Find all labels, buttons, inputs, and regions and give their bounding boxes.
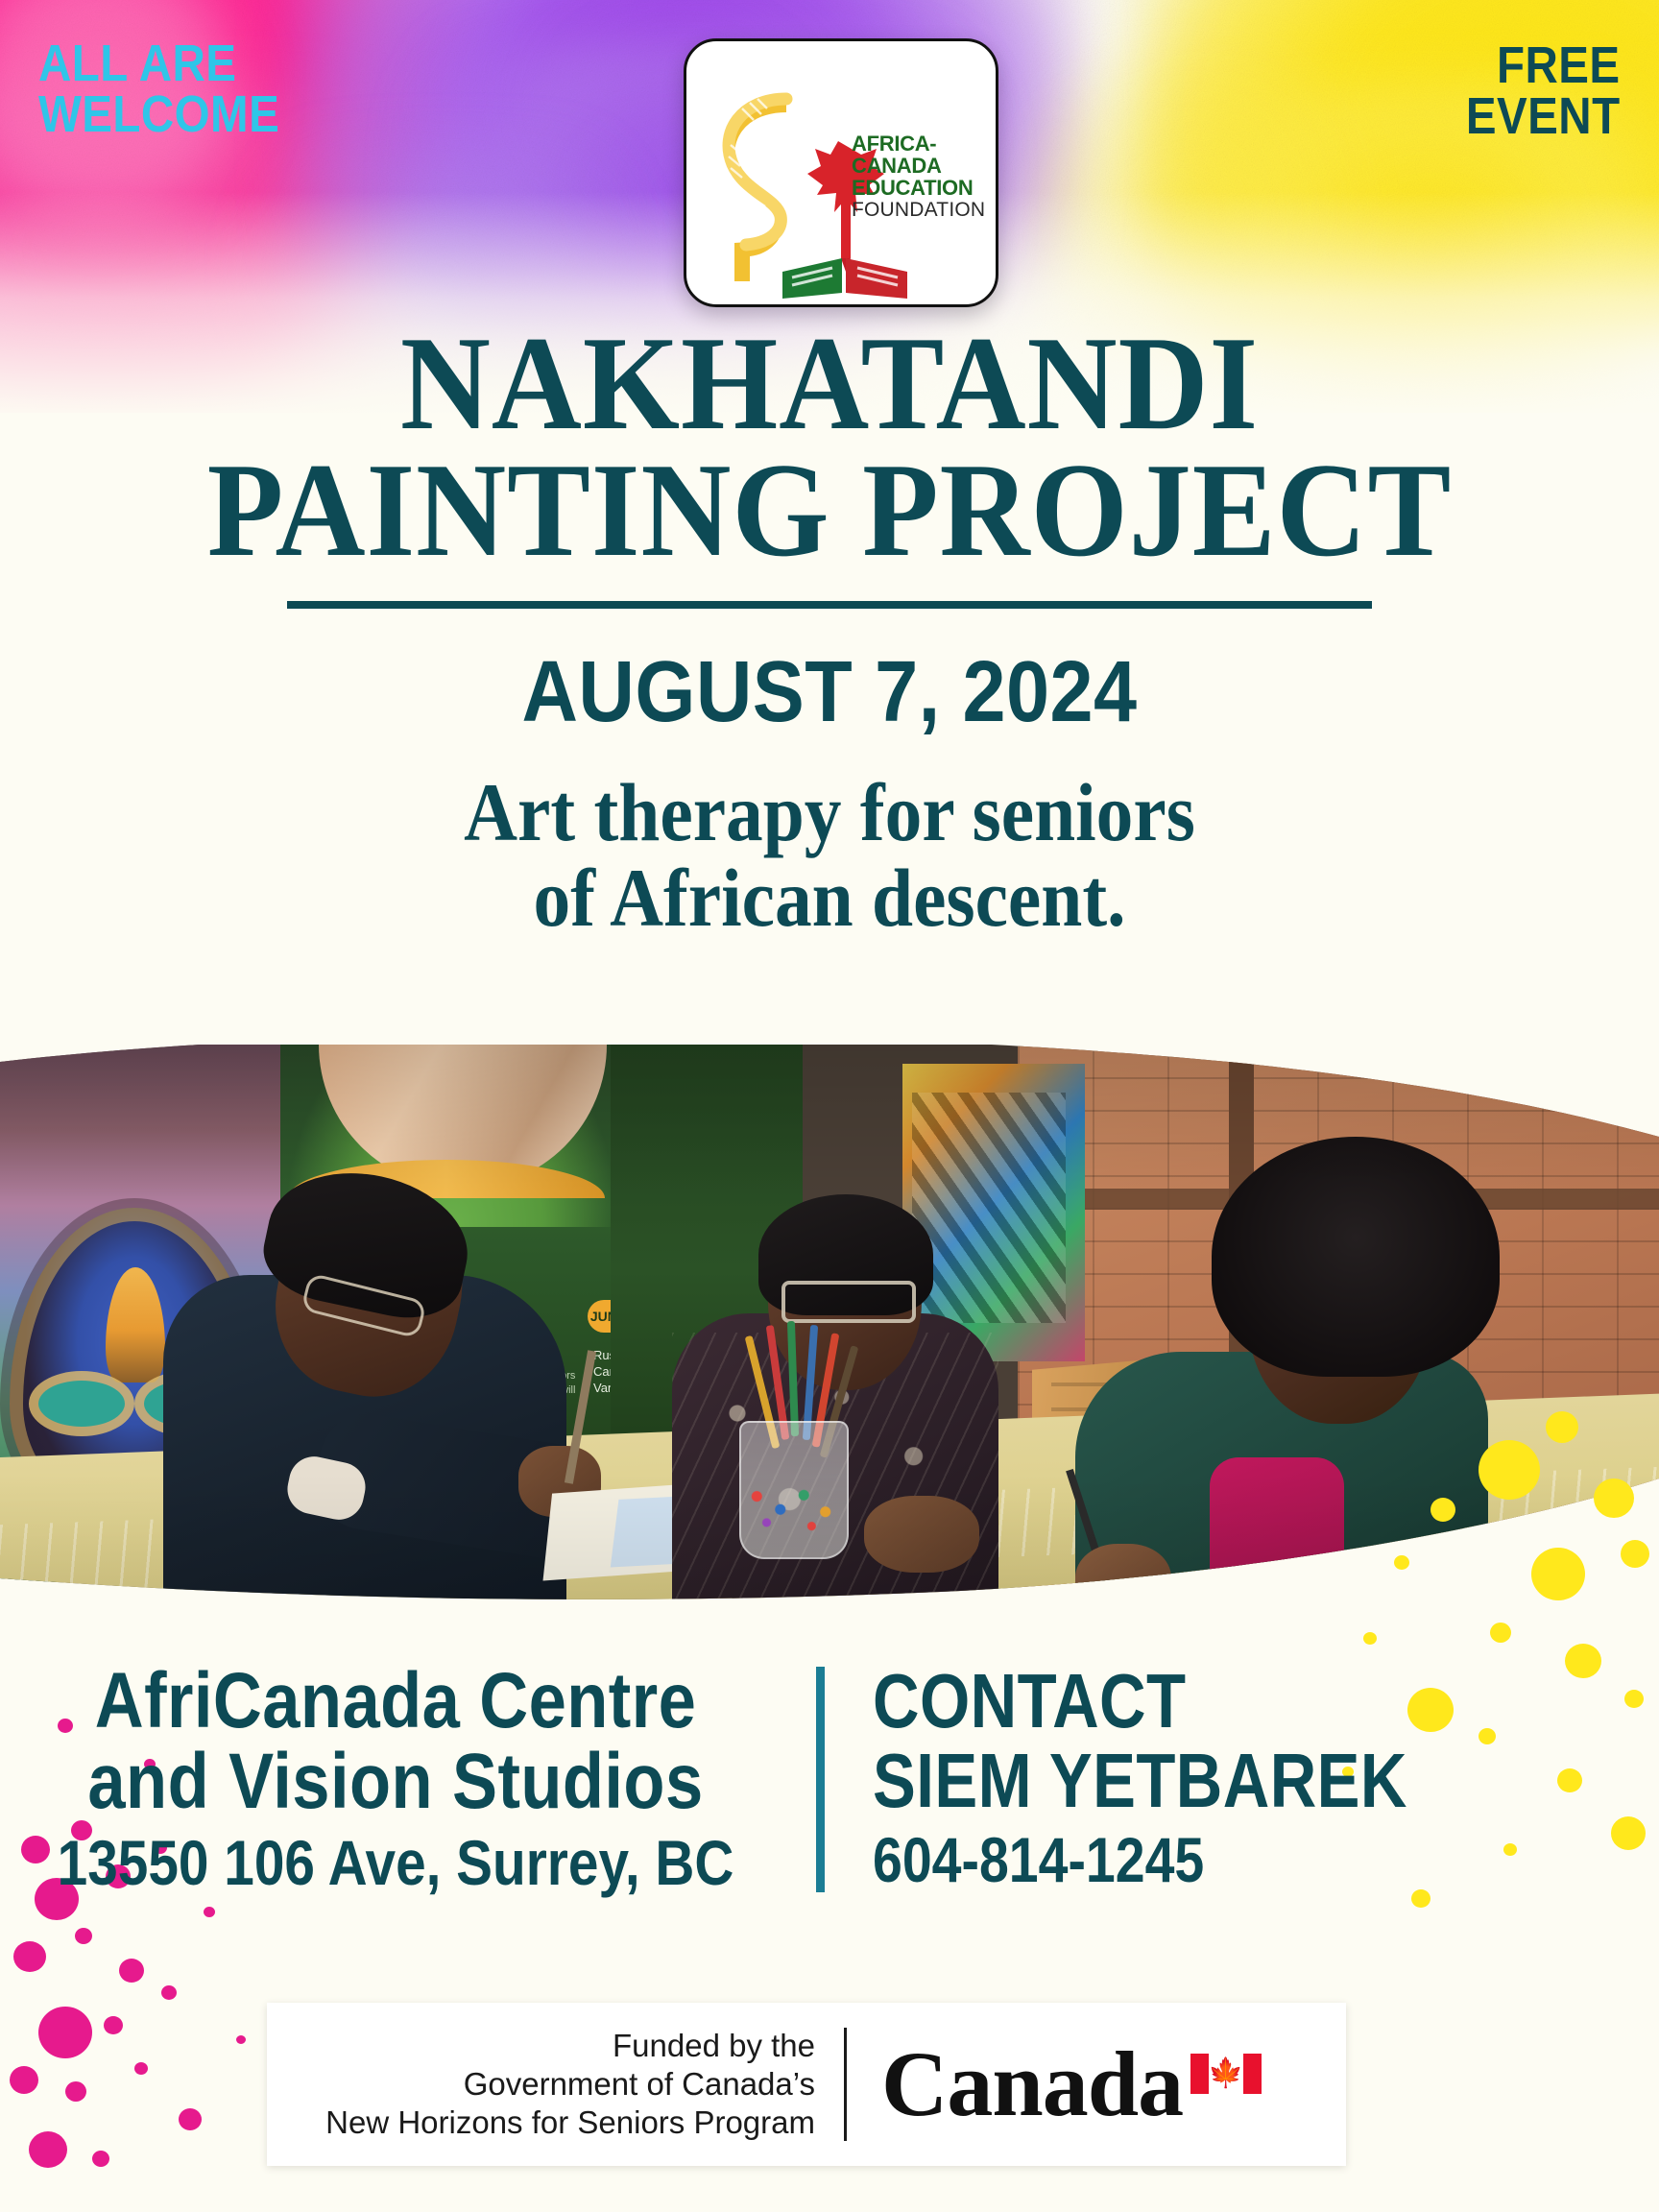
- venue-address: 13550 106 Ave, Surrey, BC: [56, 1831, 736, 1895]
- organization-logo: AFRICA-CANADA EDUCATION FOUNDATION: [684, 38, 998, 307]
- pink-paint-splatter: [161, 1985, 177, 2000]
- pink-paint-splatter: [92, 2151, 109, 2167]
- yellow-paint-splatter: [1531, 1548, 1585, 1600]
- logo-line-3: FOUNDATION: [852, 200, 996, 221]
- logo-line-2: EDUCATION: [852, 178, 996, 200]
- pink-paint-splatter: [38, 2007, 92, 2058]
- all-are-welcome-badge: ALL ARE WELCOME: [38, 38, 279, 140]
- yellow-paint-splatter: [1394, 1555, 1409, 1570]
- pink-paint-splatter: [179, 2108, 202, 2130]
- pink-paint-splatter: [119, 1959, 144, 1983]
- funder-statement: Funded by the Government of Canada’s New…: [267, 2027, 844, 2143]
- tagline-line-2: of African descent.: [83, 855, 1575, 941]
- contact-phone[interactable]: 604-814-1245: [873, 1828, 1533, 1891]
- pink-paint-splatter: [134, 2062, 148, 2075]
- funder-bar: Funded by the Government of Canada’s New…: [267, 2003, 1346, 2166]
- pink-paint-splatter: [204, 1907, 215, 1917]
- yellow-paint-splatter: [1621, 1540, 1649, 1568]
- tagline-line-1: Art therapy for seniors: [83, 770, 1575, 855]
- contact-block: CONTACT SIEM YETBAREK 604-814-1245: [825, 1661, 1659, 1891]
- free-event-line2: EVENT: [1466, 91, 1621, 142]
- logo-line-1: AFRICA-CANADA: [852, 133, 996, 178]
- event-poster: ALL ARE WELCOME FREE EVENT: [0, 0, 1659, 2212]
- event-date: AUGUST 7, 2024: [83, 649, 1575, 735]
- contact-label: CONTACT: [873, 1661, 1533, 1741]
- all-are-welcome-line2: WELCOME: [38, 89, 279, 140]
- info-divider: [816, 1667, 825, 1892]
- title-line-2: PAINTING PROJECT: [58, 444, 1600, 578]
- funder-line-3: New Horizons for Seniors Program: [267, 2104, 815, 2142]
- pink-paint-splatter: [29, 2131, 67, 2168]
- venue-line-2: and Vision Studios: [56, 1742, 736, 1822]
- funder-line-1: Funded by the: [267, 2027, 815, 2065]
- pink-paint-splatter: [65, 2081, 86, 2102]
- funder-line-2: Government of Canada’s: [267, 2065, 815, 2104]
- headline-block: NAKHATANDI PAINTING PROJECT AUGUST 7, 20…: [0, 317, 1659, 942]
- pink-paint-splatter: [104, 2016, 123, 2034]
- canada-wordmark-text: Canada: [881, 2038, 1346, 2130]
- pink-paint-splatter: [75, 1928, 92, 1944]
- yellow-paint-splatter: [1479, 1440, 1540, 1500]
- event-tagline: Art therapy for seniors of African desce…: [83, 770, 1575, 942]
- pink-paint-splatter: [10, 2066, 38, 2094]
- yellow-paint-splatter: [1490, 1623, 1511, 1643]
- yellow-paint-splatter: [1431, 1498, 1455, 1522]
- event-details: AfriCanada Centre and Vision Studios 135…: [0, 1661, 1659, 1896]
- venue-block: AfriCanada Centre and Vision Studios 135…: [0, 1661, 816, 1896]
- free-event-line1: FREE: [1466, 40, 1621, 91]
- free-event-badge: FREE EVENT: [1466, 40, 1621, 142]
- event-photo: HONOURING OUR SENIORS Nakhatandi on a So…: [0, 1045, 1659, 1640]
- all-are-welcome-line1: ALL ARE: [38, 38, 279, 89]
- yellow-paint-splatter: [1363, 1632, 1377, 1645]
- contact-name: SIEM YETBAREK: [873, 1741, 1533, 1820]
- canada-wordmark: Canada 🍁: [847, 2038, 1346, 2130]
- venue-name: AfriCanada Centre and Vision Studios: [56, 1661, 736, 1821]
- page-title: NAKHATANDI PAINTING PROJECT: [58, 317, 1600, 578]
- logo-wordmark: AFRICA-CANADA EDUCATION FOUNDATION: [852, 133, 996, 220]
- pink-paint-splatter: [236, 2035, 246, 2044]
- yellow-paint-splatter: [1546, 1411, 1578, 1443]
- title-divider: [287, 601, 1372, 609]
- venue-line-1: AfriCanada Centre: [56, 1661, 736, 1742]
- canada-flag-icon: 🍁: [1190, 2054, 1262, 2094]
- yellow-paint-splatter: [1594, 1479, 1634, 1518]
- pink-paint-splatter: [13, 1941, 46, 1972]
